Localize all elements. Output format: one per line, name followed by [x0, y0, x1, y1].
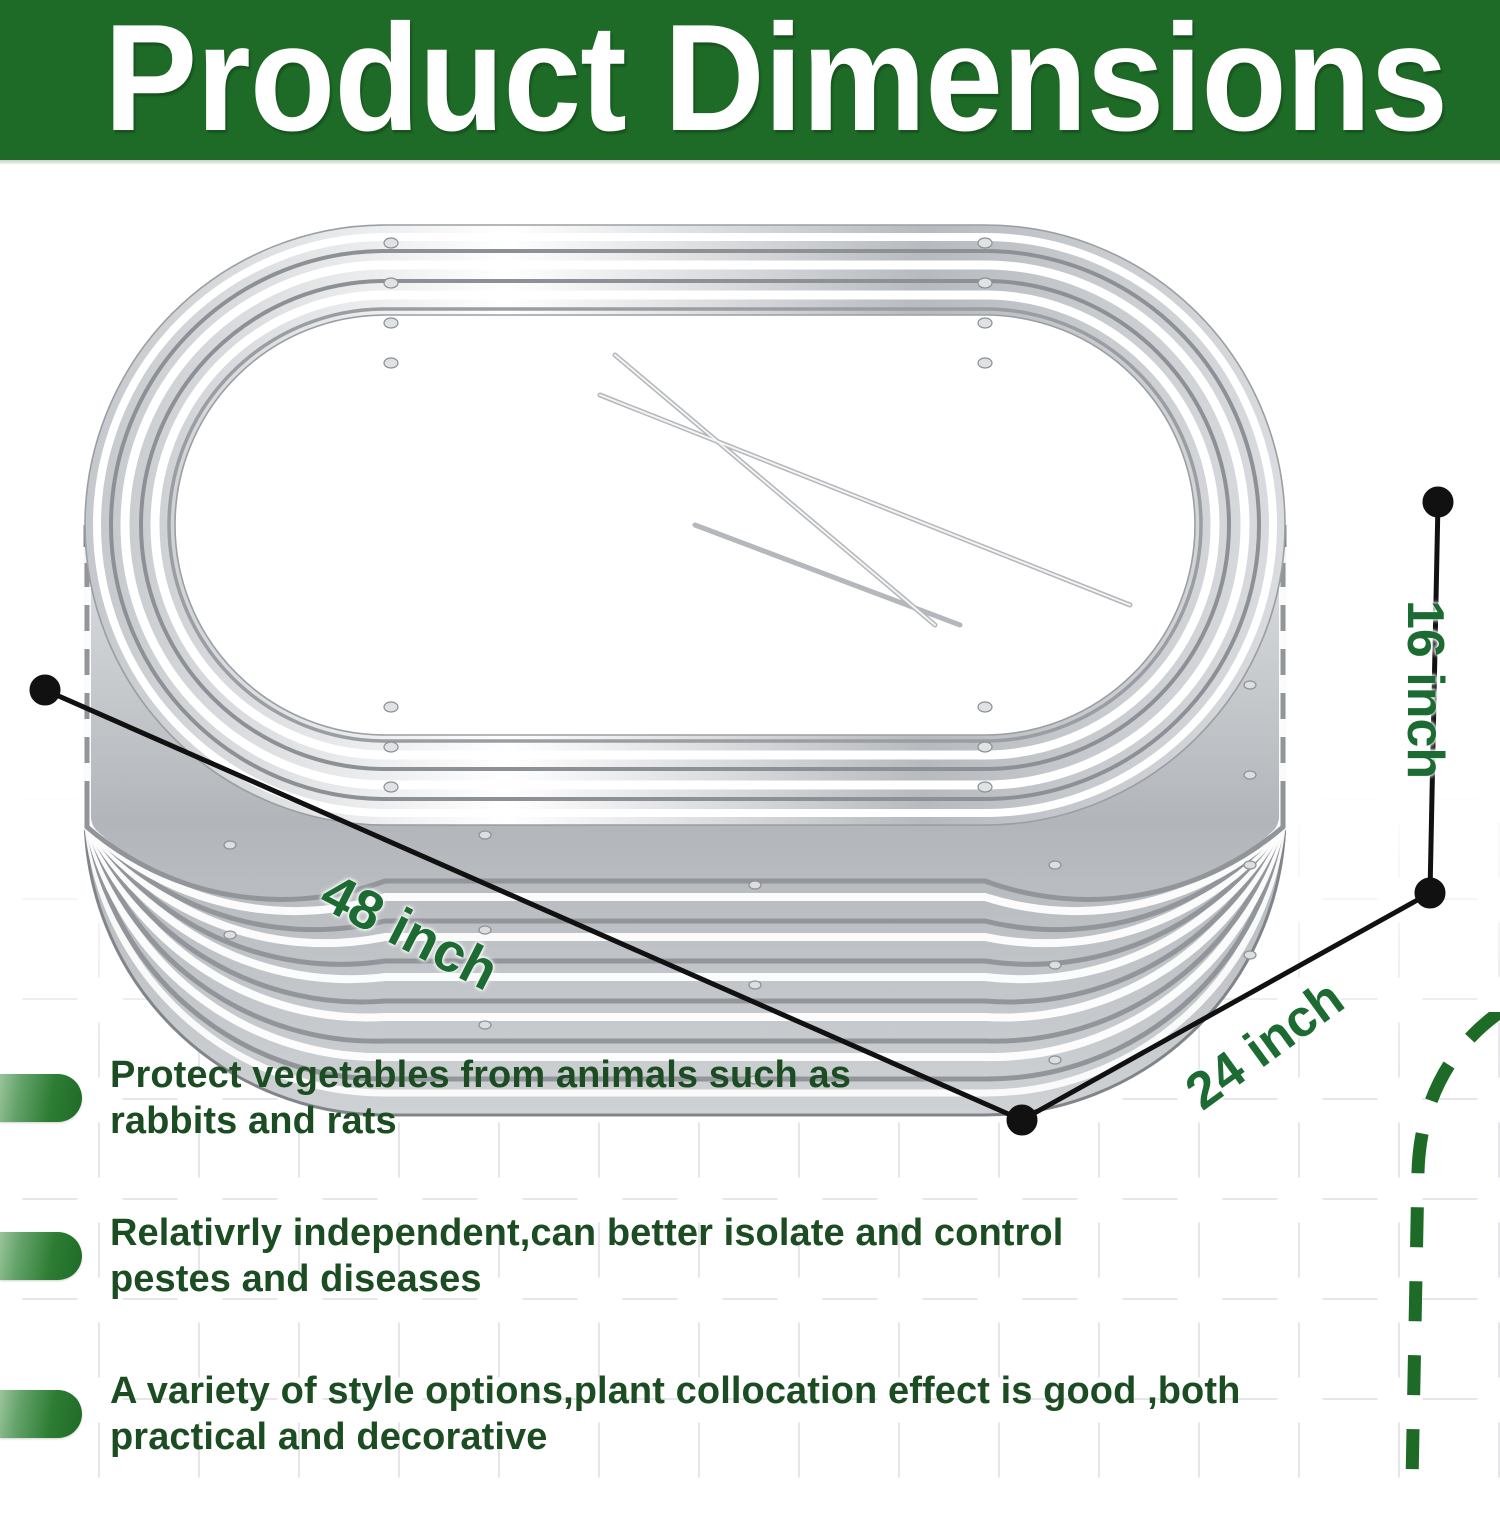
feature-text: Protect vegetables from animals such as … — [110, 1052, 970, 1144]
feature-text: Relativrly independent,can better isolat… — [110, 1210, 1230, 1302]
bullet-pill-icon — [0, 1074, 82, 1122]
feature-list: Protect vegetables from animals such as … — [0, 1052, 1500, 1526]
garden-bed-svg — [55, 195, 1375, 1155]
header-divider — [0, 160, 1500, 164]
page-title: Product Dimensions — [104, 0, 1447, 158]
feature-item: Protect vegetables from animals such as … — [0, 1052, 1500, 1170]
dimension-line-height — [1430, 502, 1438, 893]
bullet-pill-icon — [0, 1390, 82, 1438]
feature-item: Relativrly independent,can better isolat… — [0, 1210, 1500, 1328]
feature-text: A variety of style options,plant colloca… — [110, 1368, 1420, 1460]
bullet-pill-icon — [0, 1232, 82, 1280]
feature-item: A variety of style options,plant colloca… — [0, 1368, 1500, 1486]
dimension-label-height: 16 inch — [1395, 600, 1455, 779]
dimension-endpoint-height-top — [1425, 489, 1451, 515]
dimension-endpoint-height-bottom — [1417, 880, 1443, 906]
header-banner: Product Dimensions — [0, 0, 1500, 160]
bed-interior — [175, 265, 1195, 755]
product-image-oval-raised-garden-bed — [55, 195, 1375, 1155]
